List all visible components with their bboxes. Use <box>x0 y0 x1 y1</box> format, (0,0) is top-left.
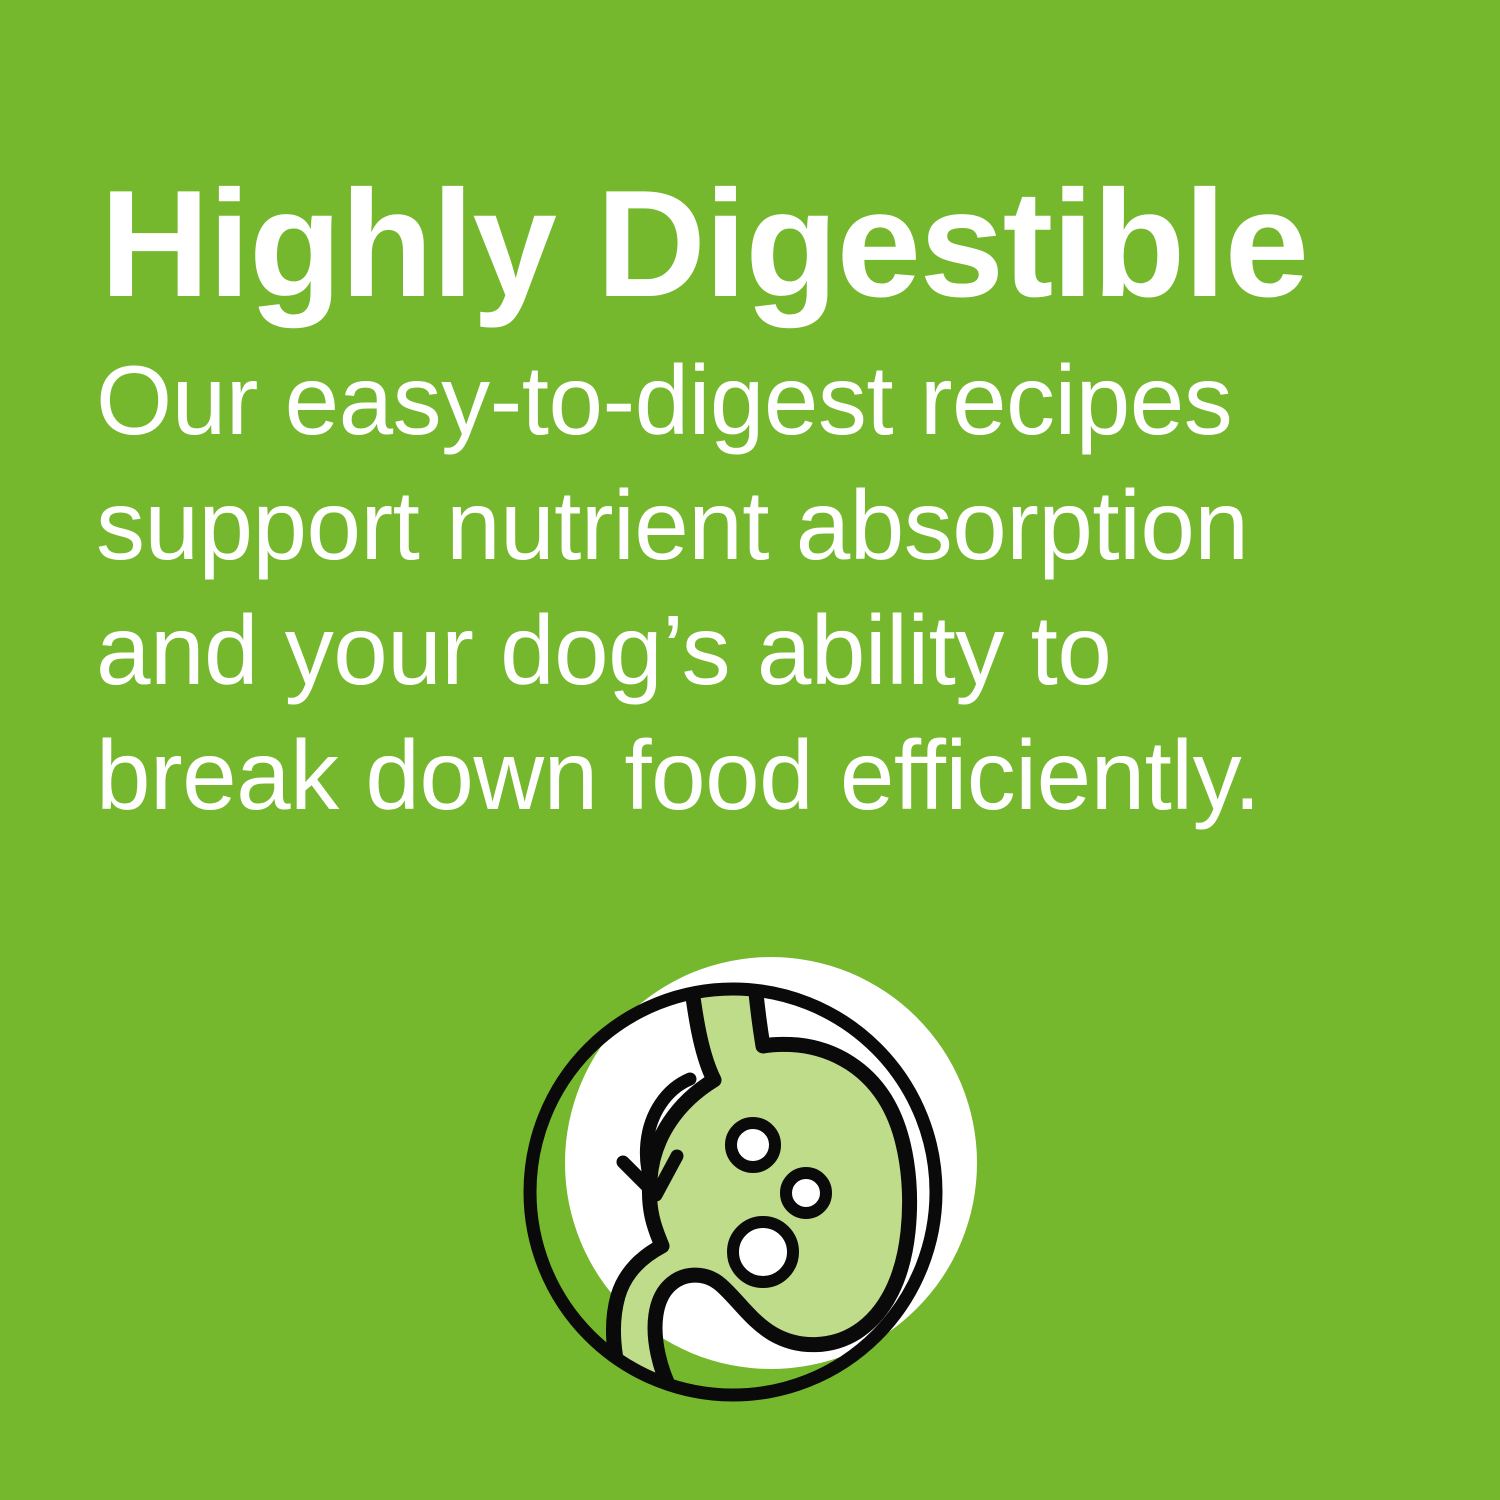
digestible-benefit-card: Highly Digestible Our easy-to-digest rec… <box>0 0 1500 1500</box>
body-line-3: and your dog’s ability to <box>96 588 1426 713</box>
page-title: Highly Digestible <box>100 168 1430 320</box>
stomach-digestion-icon <box>500 930 1020 1430</box>
bubble-icon-1 <box>731 1123 775 1167</box>
body-line-2: support nutrient absorption <box>96 463 1426 588</box>
body-copy: Our easy-to-digest recipes support nutri… <box>96 338 1426 838</box>
body-line-1: Our easy-to-digest recipes <box>96 338 1426 463</box>
bubble-icon-3 <box>733 1222 793 1282</box>
bubble-icon-2 <box>786 1173 826 1213</box>
body-line-4: break down food efficiently. <box>96 713 1426 838</box>
